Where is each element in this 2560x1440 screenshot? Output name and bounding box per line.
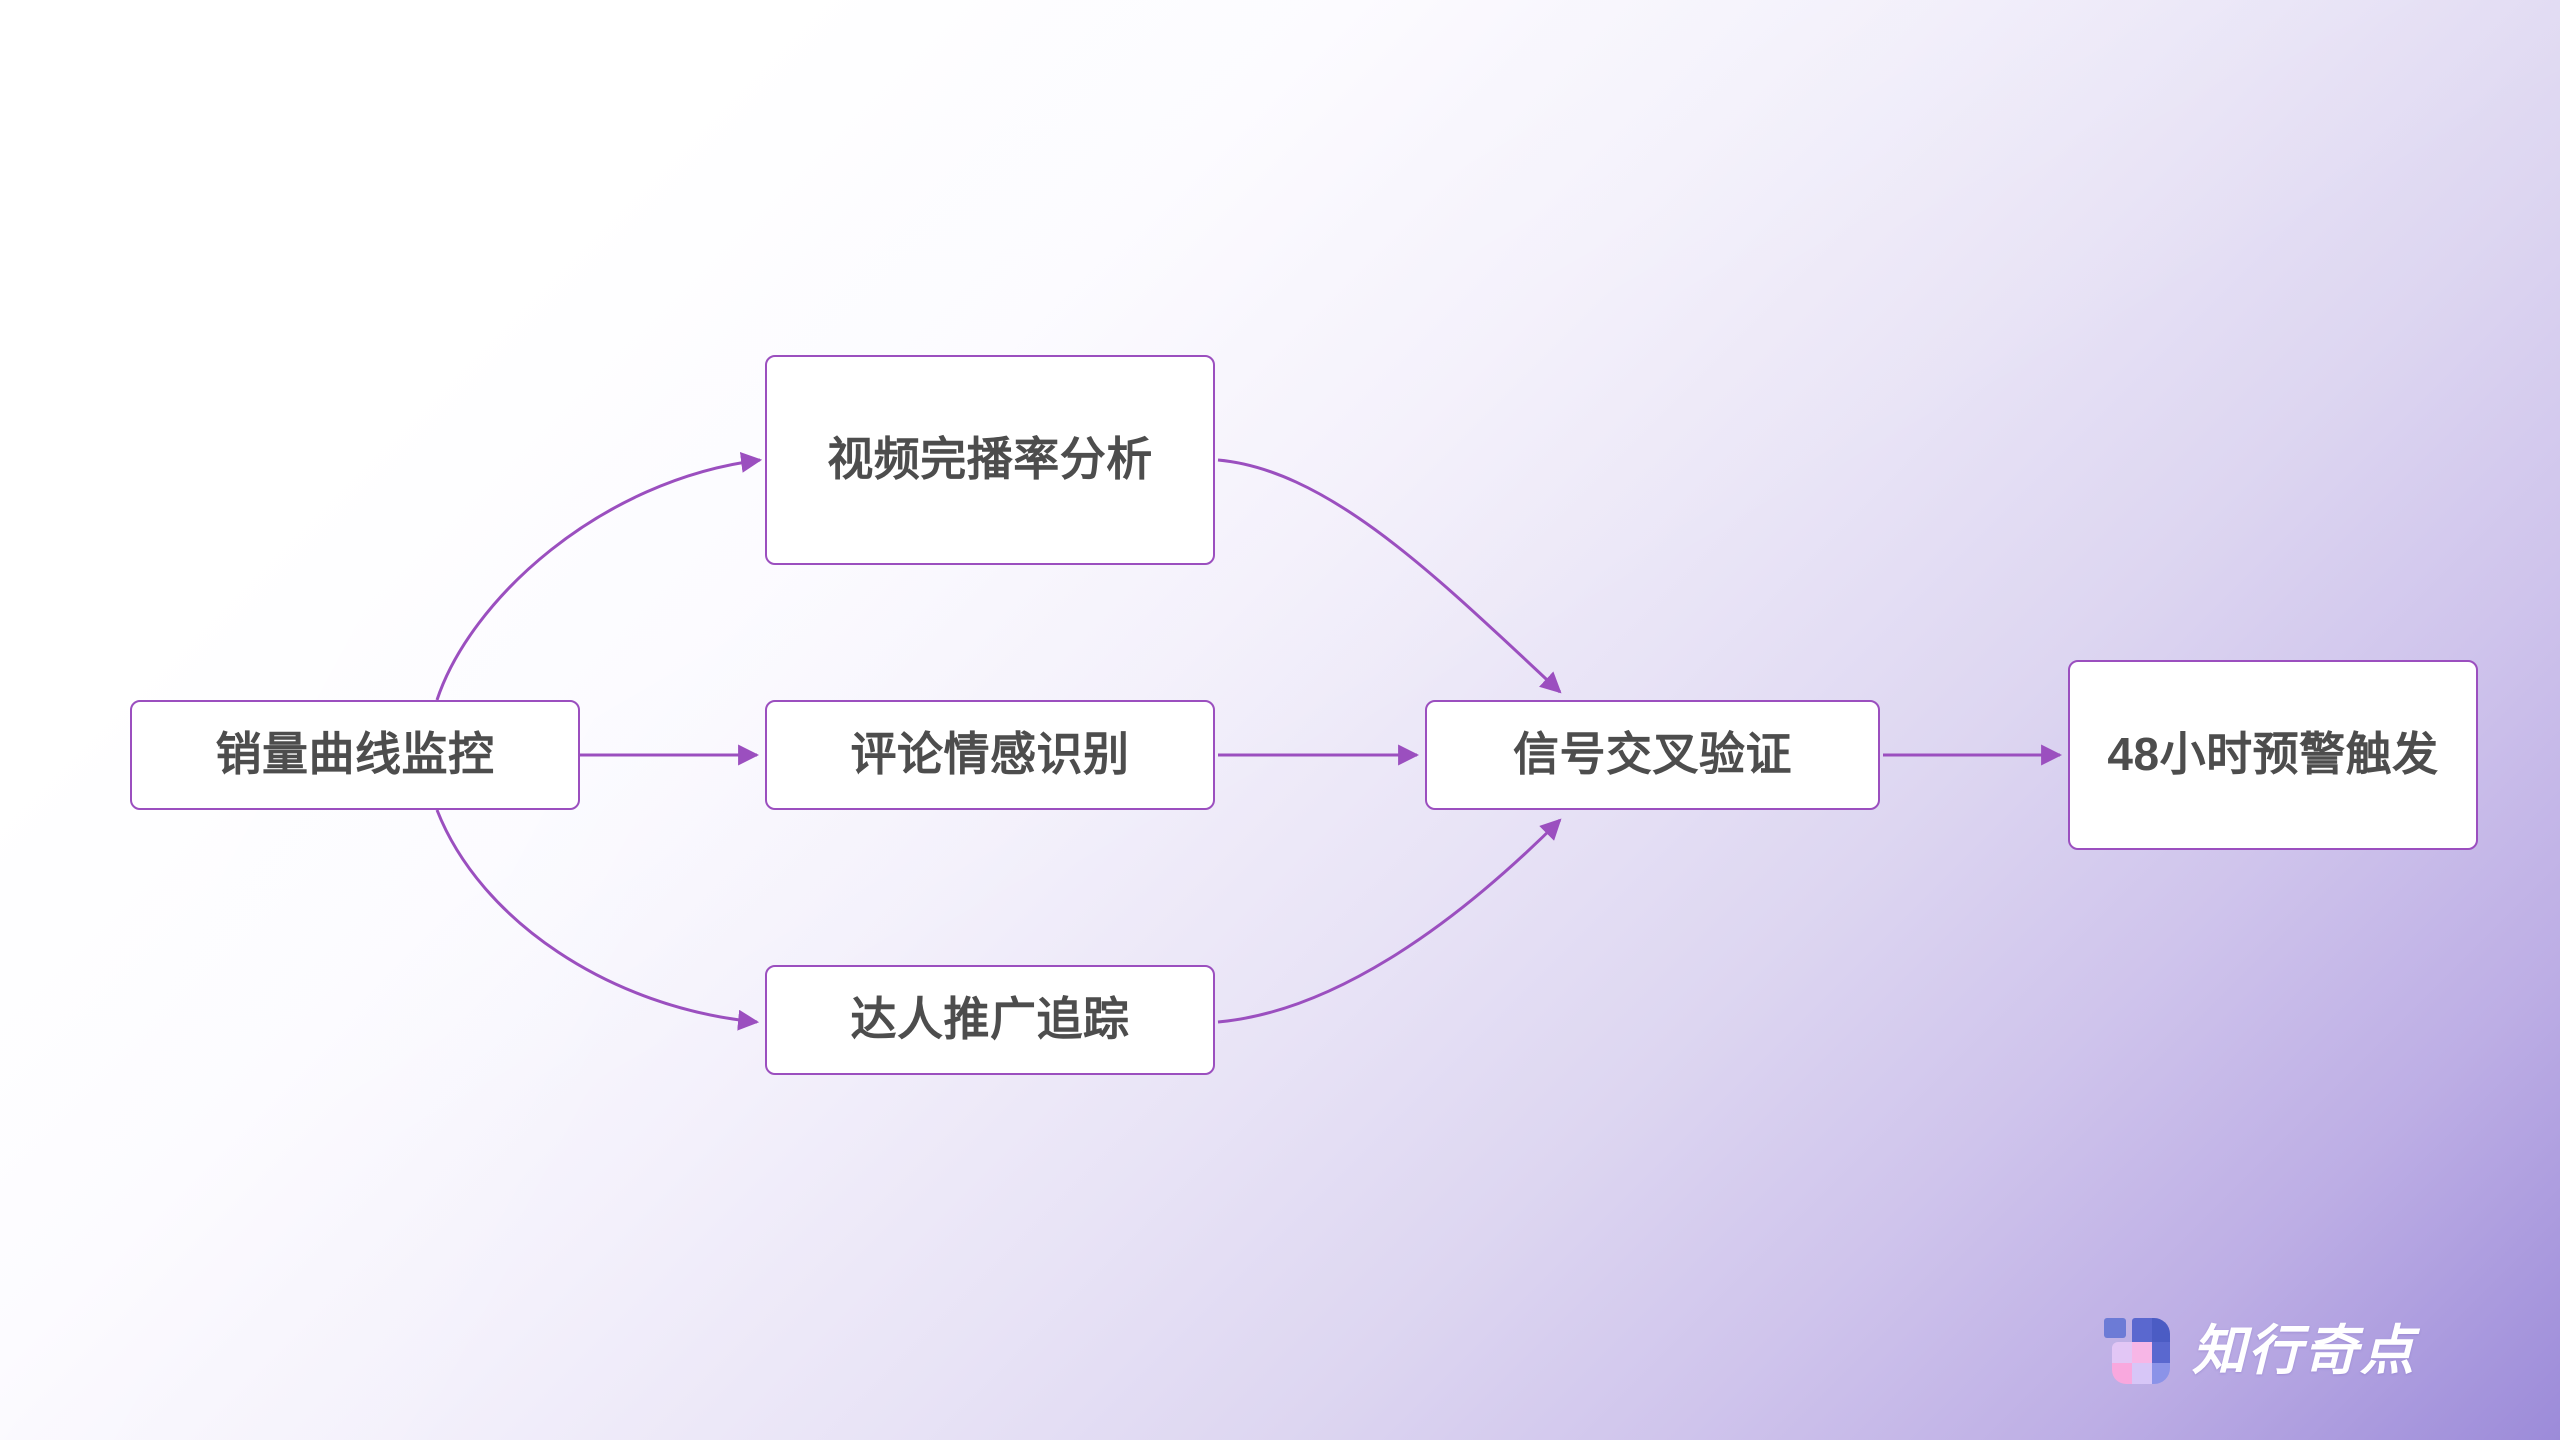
node-influencer-promotion-tracking[interactable]: 达人推广追踪 — [765, 965, 1215, 1075]
logo-square-6 — [2152, 1342, 2170, 1363]
edge-sales-to-influencer — [437, 810, 757, 1022]
logo-square-8 — [2132, 1363, 2152, 1384]
watermark: 知行奇点 — [2104, 1318, 2416, 1384]
node-label: 信号交叉验证 — [1513, 726, 1792, 784]
logo-square-5 — [2132, 1342, 2152, 1363]
logo-square-9 — [2152, 1363, 2170, 1384]
logo-square-4 — [2112, 1342, 2132, 1363]
node-video-completion-rate-analysis[interactable]: 视频完播率分析 — [765, 355, 1215, 565]
node-signal-cross-validation[interactable]: 信号交叉验证 — [1425, 700, 1880, 810]
node-48h-alert-trigger[interactable]: 48小时预警触发 — [2068, 660, 2478, 850]
edge-sales-to-video — [437, 460, 760, 700]
logo-square-1 — [2104, 1318, 2126, 1338]
node-label: 销量曲线监控 — [216, 726, 495, 784]
edge-video-to-signal — [1218, 460, 1560, 692]
node-label: 48小时预警触发 — [2107, 726, 2438, 784]
logo-square-2 — [2132, 1318, 2152, 1342]
brand-logo-icon — [2104, 1318, 2170, 1384]
logo-square-7 — [2112, 1363, 2132, 1384]
node-label: 视频完播率分析 — [827, 431, 1153, 489]
node-comment-sentiment-recognition[interactable]: 评论情感识别 — [765, 700, 1215, 810]
diagram-canvas: 销量曲线监控 视频完播率分析 评论情感识别 达人推广追踪 信号交叉验证 48小时… — [0, 0, 2560, 1440]
logo-square-3 — [2152, 1318, 2170, 1342]
node-sales-curve-monitoring[interactable]: 销量曲线监控 — [130, 700, 580, 810]
brand-name: 知行奇点 — [2192, 1324, 2416, 1378]
edge-influencer-to-signal — [1218, 820, 1560, 1022]
node-label: 达人推广追踪 — [851, 991, 1130, 1049]
node-label: 评论情感识别 — [851, 726, 1130, 784]
